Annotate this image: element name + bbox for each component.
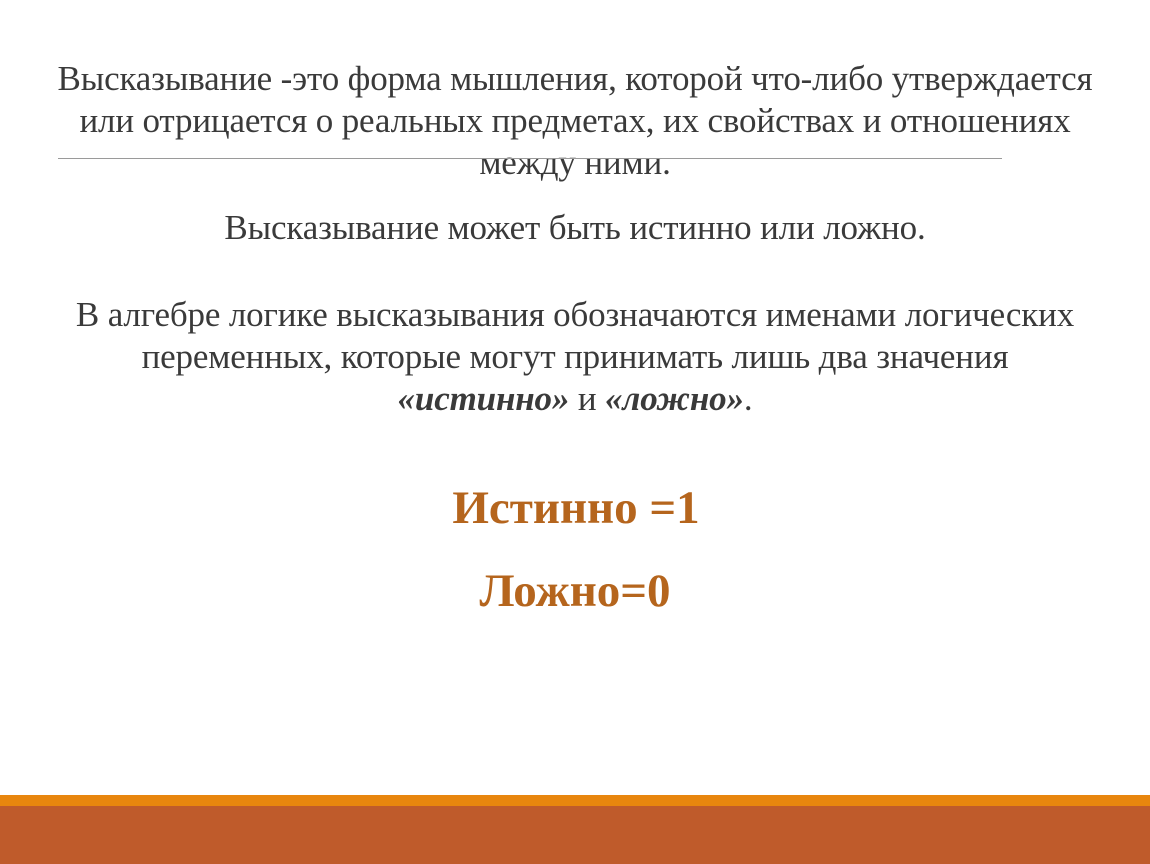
slide-content-column: Высказывание -это форма мышления, которо… [52, 58, 1098, 420]
paragraph-definition: Высказывание -это форма мышления, которо… [52, 58, 1098, 185]
variables-conjunction: и [569, 379, 605, 418]
accent-equations-block: Истинно =1 Ложно=0 [52, 485, 1098, 615]
footer-thick-terracotta-bar [0, 806, 1150, 864]
horizontal-rule-divider [58, 158, 1002, 159]
equation-true-equals-one: Истинно =1 [52, 485, 1098, 532]
variables-intro-text: В алгебре логике высказывания обозначают… [76, 295, 1074, 376]
emphasis-false-word: «ложно» [605, 379, 744, 418]
paragraph-truth-value: Высказывание может быть истинно или ложн… [52, 207, 1098, 249]
paragraph-logical-variables: В алгебре логике высказывания обозначают… [52, 294, 1098, 421]
footer-thin-orange-bar [0, 795, 1150, 806]
presentation-slide: Высказывание -это форма мышления, которо… [0, 0, 1150, 864]
variables-end-punctuation: . [744, 379, 753, 418]
emphasis-true-word: «истинно» [398, 379, 570, 418]
equation-false-equals-zero: Ложно=0 [52, 568, 1098, 615]
